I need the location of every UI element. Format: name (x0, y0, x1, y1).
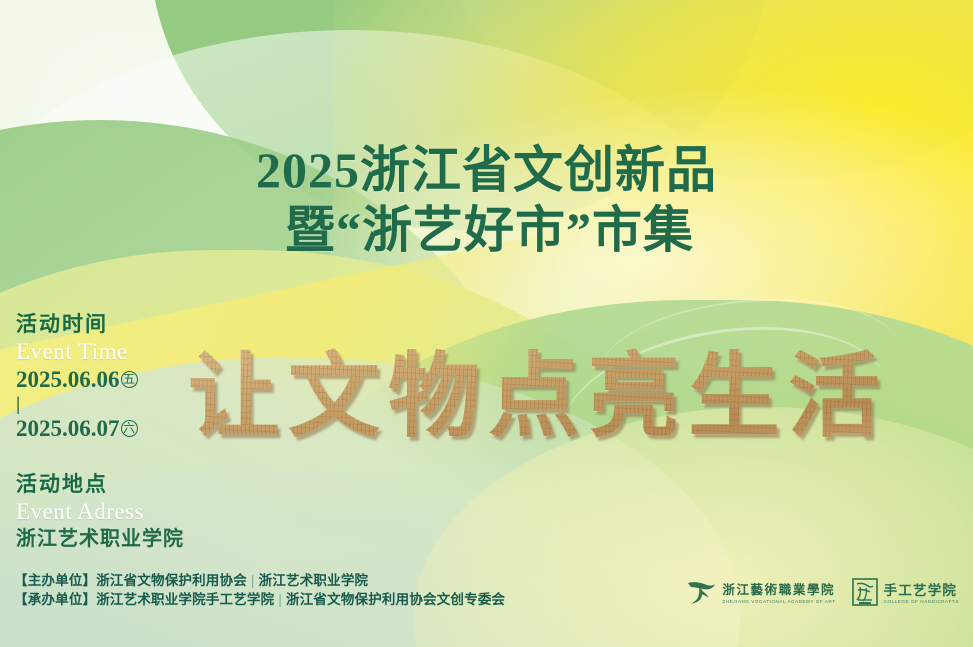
organizer-block: 【主办单位】浙江省文物保护利用协会|浙江艺术职业学院 【承办单位】浙江艺术职业学… (14, 571, 505, 609)
logo-2-name-en: COLLEGE OF HANDICRAFTS (884, 600, 959, 605)
date-range-dash: | (16, 395, 226, 414)
organizer-co-separator: | (274, 592, 286, 607)
title-line-1: 2025浙江省文创新品 (0, 140, 973, 200)
event-end-date: 2025.06.07六 (16, 414, 226, 444)
organizer-host-prefix: 【主办单位】 (14, 573, 96, 588)
organizer-co-second: 浙江省文物保护利用协会文创专委会 (286, 592, 505, 607)
logo-zhejiang-vocational-academy-of-art: 浙江藝術職業學院 ZHEJIANG VOCATIONAL ACADEMY OF … (686, 578, 835, 611)
event-time-label-cn: 活动时间 (16, 312, 226, 338)
organizer-line-host: 【主办单位】浙江省文物保护利用协会|浙江艺术职业学院 (14, 571, 505, 590)
event-start-date-text: 2025.06.06 (16, 367, 120, 392)
organizer-host-separator: | (247, 573, 259, 588)
event-time-label-en: Event Time (16, 338, 226, 365)
event-start-weekday: 五 (121, 371, 138, 388)
organizer-host-second: 浙江艺术职业学院 (259, 573, 369, 588)
poster-content: 2025浙江省文创新品 暨“浙艺好市”市集 让文物点亮生活 活动时间 Event… (0, 0, 973, 647)
event-address-group: 活动地点 Event Adress 浙江艺术职业学院 (16, 472, 226, 553)
event-start-date: 2025.06.06五 (16, 365, 226, 395)
organizer-host-first: 浙江省文物保护利用协会 (96, 573, 247, 588)
event-time-group: 活动时间 Event Time 2025.06.06五 | 2025.06.07… (16, 312, 226, 444)
logo-2-name-cn: 手工艺学院 (884, 584, 959, 598)
logo-2-text: 手工艺学院 COLLEGE OF HANDICRAFTS (884, 584, 959, 605)
event-end-weekday: 六 (121, 420, 138, 437)
event-venue: 浙江艺术职业学院 (16, 525, 226, 553)
title-line-2: 暨“浙艺好市”市集 (0, 200, 973, 260)
poster-headline: 让文物点亮生活 (188, 342, 888, 452)
organizer-line-coorganizer: 【承办单位】浙江艺术职业学院手工艺学院|浙江省文物保护利用协会文创专委会 (14, 590, 505, 609)
event-address-label-cn: 活动地点 (16, 472, 226, 498)
dancer-bird-icon (686, 578, 716, 611)
logo-1-name-en: ZHEJIANG VOCATIONAL ACADEMY OF ART (722, 600, 835, 605)
logo-row: 浙江藝術職業學院 ZHEJIANG VOCATIONAL ACADEMY OF … (686, 578, 959, 611)
event-address-label-en: Event Adress (16, 498, 226, 525)
seal-square-icon (852, 578, 878, 611)
logo-1-text: 浙江藝術職業學院 ZHEJIANG VOCATIONAL ACADEMY OF … (722, 584, 835, 604)
poster-title: 2025浙江省文创新品 暨“浙艺好市”市集 (0, 140, 973, 260)
organizer-co-prefix: 【承办单位】 (14, 592, 96, 607)
event-end-date-text: 2025.06.07 (16, 416, 120, 441)
organizer-co-first: 浙江艺术职业学院手工艺学院 (96, 592, 274, 607)
logo-1-name-cn: 浙江藝術職業學院 (722, 584, 835, 597)
event-info-panel: 活动时间 Event Time 2025.06.06五 | 2025.06.07… (16, 312, 226, 581)
poster-canvas: 2025浙江省文创新品 暨“浙艺好市”市集 让文物点亮生活 活动时间 Event… (0, 0, 973, 647)
logo-college-of-handicrafts: 手工艺学院 COLLEGE OF HANDICRAFTS (852, 578, 959, 611)
